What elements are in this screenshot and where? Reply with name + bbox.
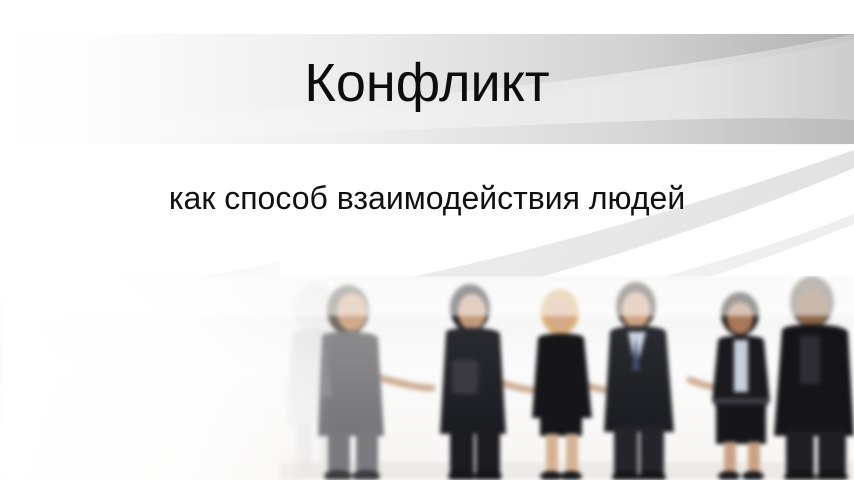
presentation-slide: Конфликт как способ взаимодействия людей [0, 0, 854, 480]
people-photo [0, 276, 854, 480]
slide-subtitle: как способ взаимодействия людей [107, 176, 747, 221]
slide-title: Конфликт [0, 55, 854, 112]
